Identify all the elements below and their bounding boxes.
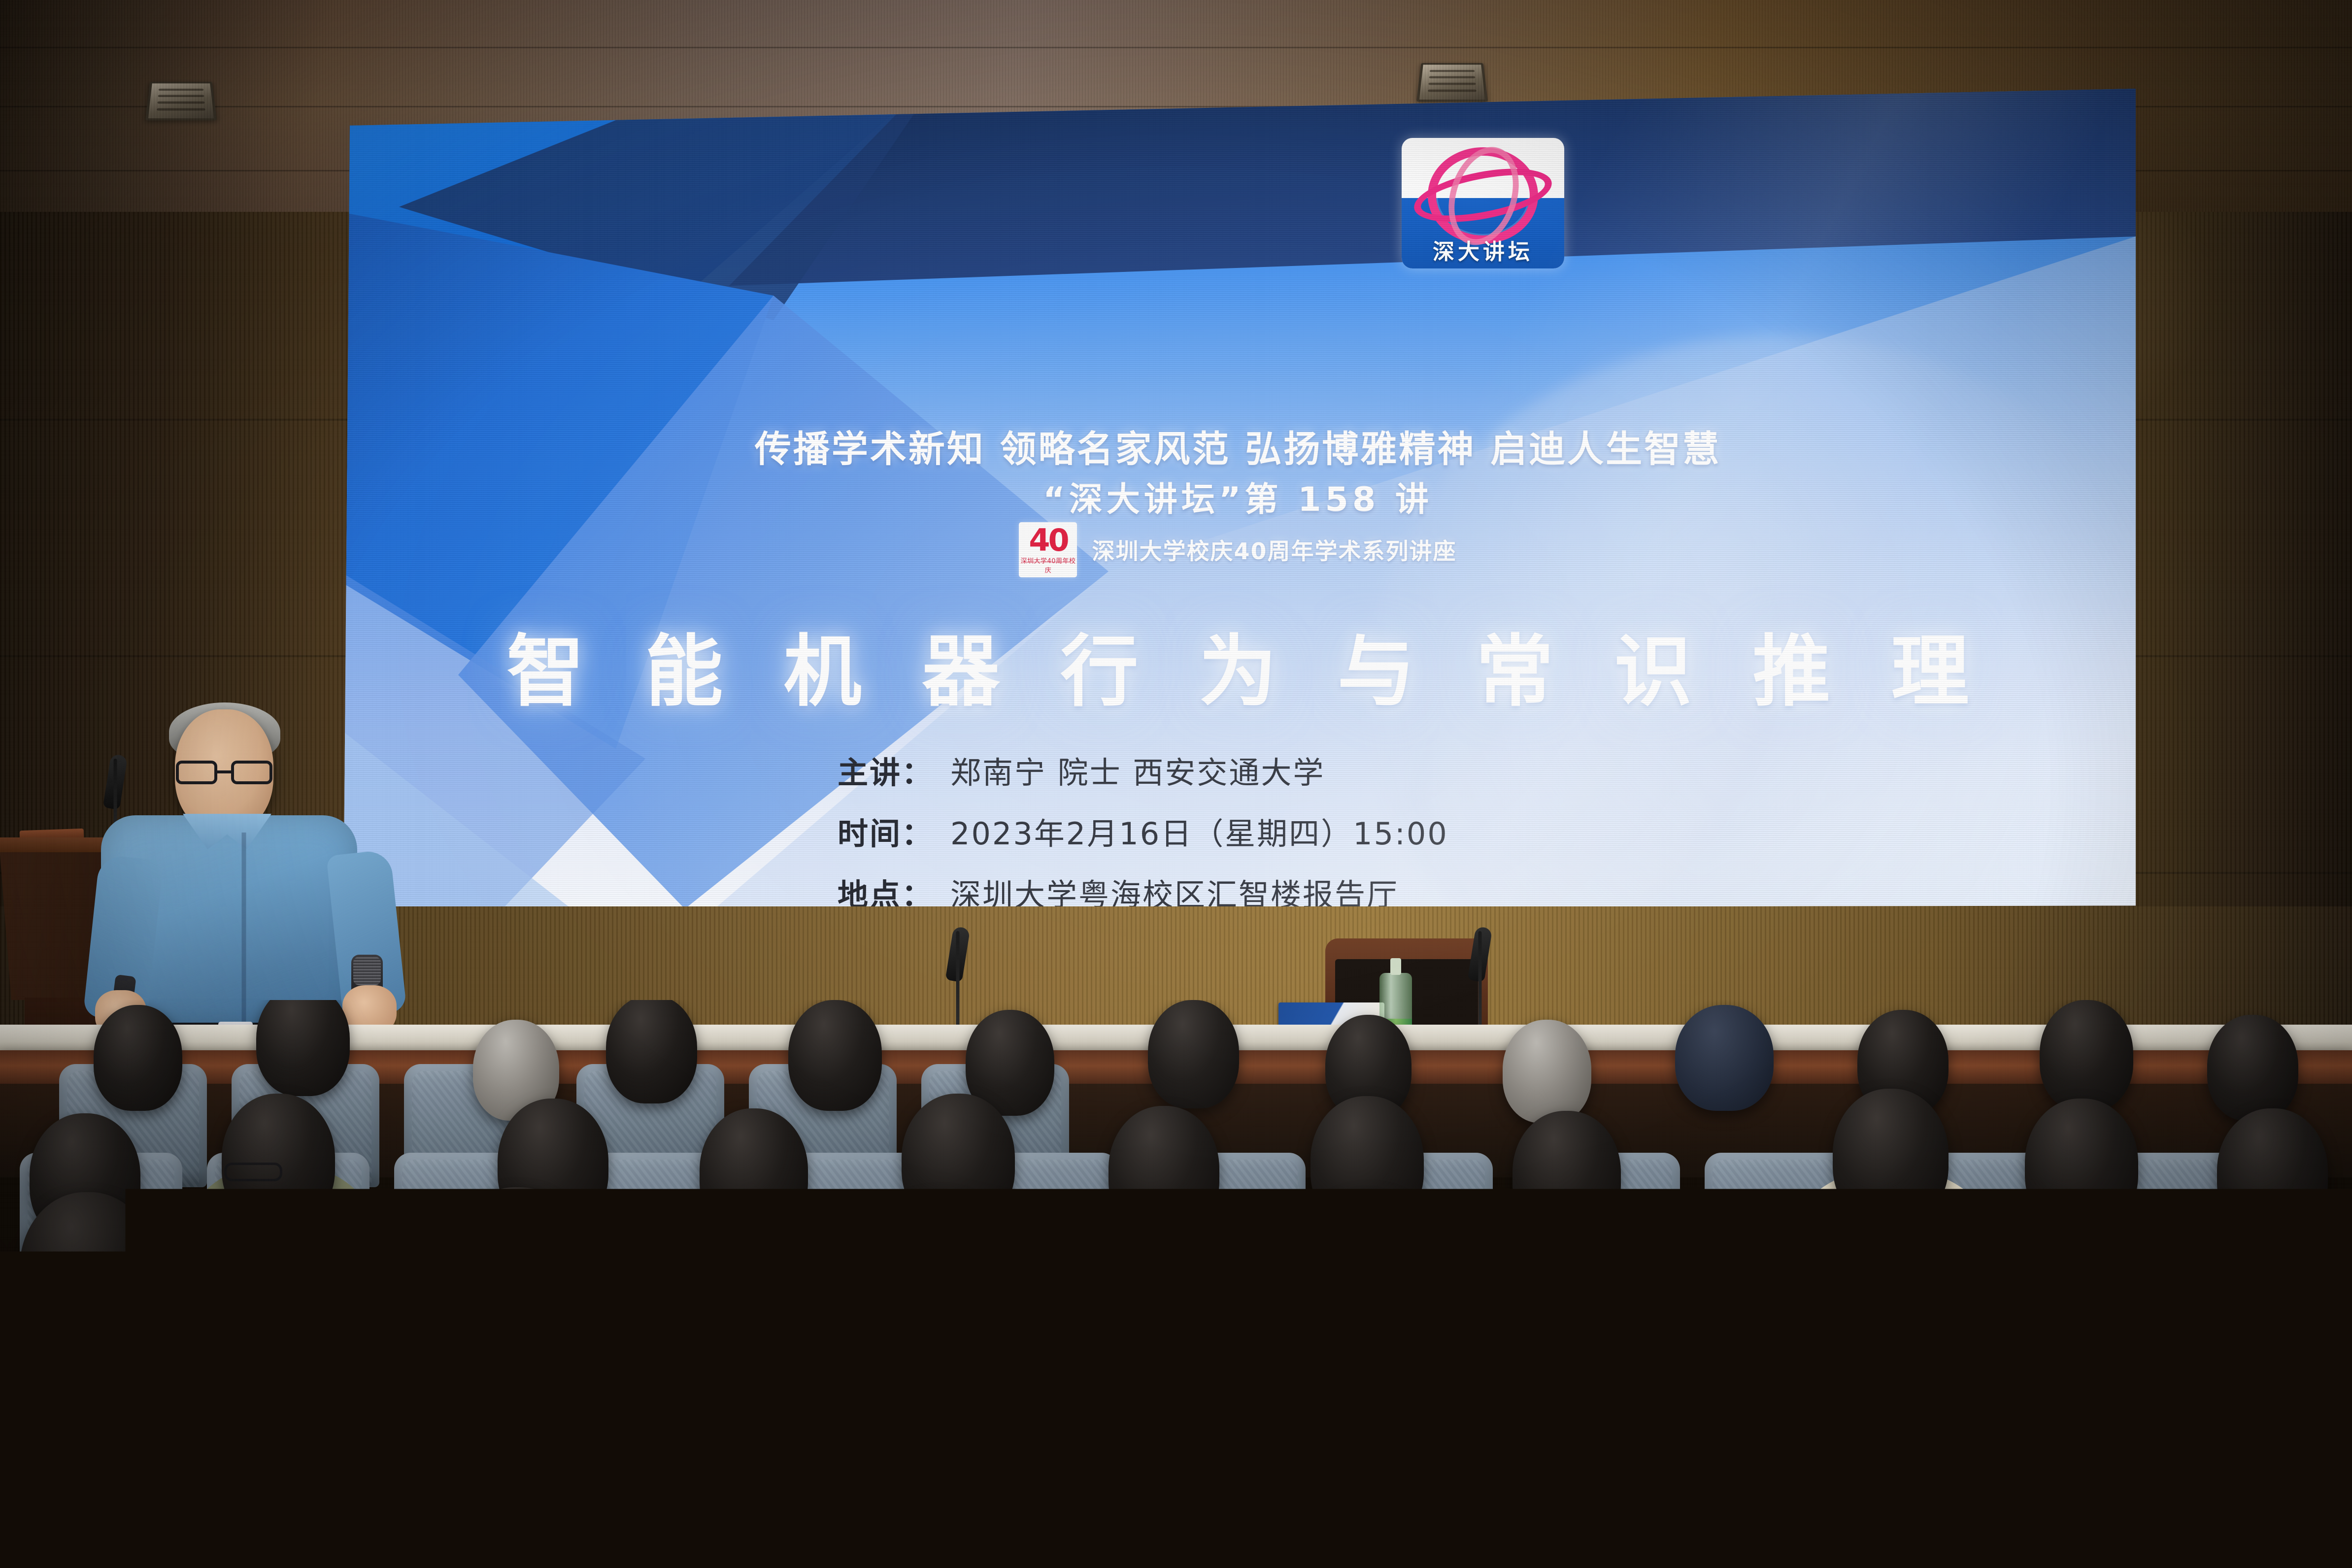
audience-head [660,1204,791,1355]
ceiling-vent-icon [1416,63,1488,101]
anniversary-series-text: 深圳大学校庆40周年学术系列讲座 [1092,534,1456,566]
slide-series-line: “深大讲坛”第 158 讲 [340,472,2136,521]
detail-row-venue: 地点： 深圳大学粤海校区汇智楼报告厅 [838,870,1448,909]
szu-forum-logo: 深大讲坛 [1402,138,1564,268]
audience-head [1148,1000,1239,1108]
audience-head [1724,1195,1858,1350]
lecture-hall-scene: 深大讲坛 传播学术新知 领略名家风范 弘扬博雅精神 启迪人生智慧 “深大讲坛”第… [0,0,2352,1568]
title-slide: 深大讲坛 传播学术新知 领略名家风范 弘扬博雅精神 启迪人生智慧 “深大讲坛”第… [340,89,2136,909]
detail-label: 主讲： [838,748,934,792]
audience-head [1503,1020,1591,1123]
anniversary-number: 40 [1019,525,1077,556]
audience-head-with-cap [1675,1005,1774,1111]
detail-value: 郑南宁 院士 西安交通大学 [950,748,1325,792]
glasses-icon [176,761,272,784]
logo-caption: 深大讲坛 [1402,234,1564,266]
audience-head [606,1000,697,1103]
glasses-icon [224,1163,282,1181]
anniversary-40-badge-icon: 40 深圳大学40周年校庆 [1019,522,1077,577]
audience-head [1512,1209,1642,1357]
audience-head [1833,1089,1949,1224]
audience-head [2207,1015,2298,1121]
detail-value: 深圳大学粤海校区汇智楼报告厅 [950,870,1399,909]
audience-head [448,1187,586,1347]
audience-head [2040,1000,2133,1111]
audience-head [985,1340,1136,1515]
slide-details-block: 主讲： 郑南宁 院士 西安交通大学 时间： 2023年2月16日（星期四）15:… [838,748,1448,909]
glasses-icon [296,1434,370,1457]
audience-head [788,1000,882,1111]
audience-head [241,1202,372,1355]
audience-head [1936,1212,2064,1359]
detail-label: 时间： [838,809,934,853]
slide-main-title: 智 能 机 器 行 为 与 常 识 推 理 [340,608,2136,721]
audience-head [2025,1099,2138,1232]
projection-screen: 深大讲坛 传播学术新知 领略名家风范 弘扬博雅精神 启迪人生智慧 “深大讲坛”第… [340,89,2136,909]
detail-row-time: 时间： 2023年2月16日（星期四）15:00 [838,809,1448,853]
audience-head [498,1335,650,1512]
detail-label: 地点： [838,870,934,909]
audience-head [256,1000,350,1096]
slide-tagline: 传播学术新知 领略名家风范 弘扬博雅精神 启迪人生智慧 [340,420,2136,472]
audience-head [20,1192,155,1350]
audience-head [1301,1190,1436,1347]
audience-head [1089,1207,1217,1355]
audience-head [872,1192,1008,1349]
anniversary-badge-caption: 深圳大学40周年校庆 [1019,556,1077,574]
audience-area [0,1000,2352,1568]
audience-head [94,1005,182,1111]
ceiling-vent-icon [145,82,217,120]
detail-row-speaker: 主讲： 郑南宁 院士 西安交通大学 [838,748,1448,792]
anniversary-row: 40 深圳大学40周年校庆 深圳大学校庆40周年学术系列讲座 [340,522,2136,577]
detail-value: 2023年2月16日（星期四）15:00 [950,809,1448,853]
audience-head [2148,1197,2281,1351]
